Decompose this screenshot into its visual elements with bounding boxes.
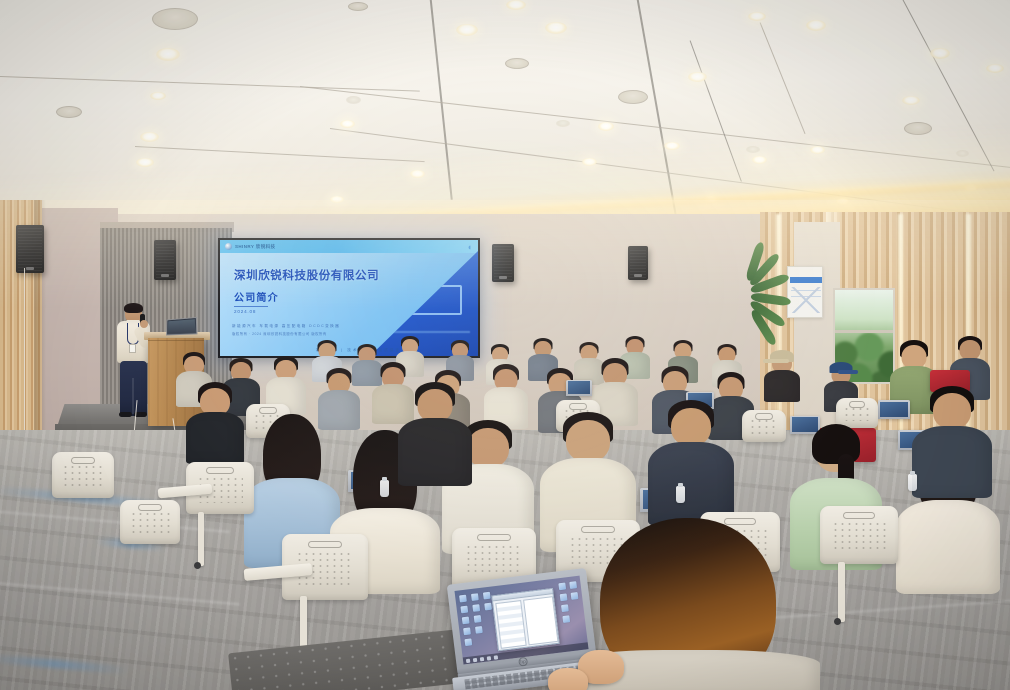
ceiling-downlight (806, 20, 826, 31)
audience-person-cap-beige (764, 348, 800, 400)
ceiling-speaker (56, 106, 82, 118)
training-chair[interactable] (120, 500, 180, 544)
slide-rule (234, 306, 268, 307)
audience-laptop[interactable] (566, 380, 592, 396)
slide-meta-line-2: 版权所有 · 2024 深圳欣锐科技股份有限公司 版权所有 (232, 331, 327, 336)
ceiling-speaker (505, 58, 529, 69)
training-chair[interactable] (820, 506, 898, 564)
typing-hand (548, 668, 588, 690)
chair-caster (194, 562, 201, 569)
slide-title: 深圳欣锐科技股份有限公司 (234, 267, 379, 283)
potted-palm (735, 262, 795, 352)
slide-logo-text: SHINRY 欣锐科技 (235, 244, 275, 250)
slide-subtitle: 公司简介 (234, 289, 279, 304)
chair-leg (838, 562, 845, 622)
slide-meta-line-1: 新能源汽车 车载电源 高压配电箱 DCDC变换器 (232, 324, 340, 329)
ceiling-downlight (506, 0, 526, 10)
presentation-slide: SHINRY 欣锐科技 ◖ 深圳欣锐科技股份有限公司 公司简介 2024.08 … (220, 240, 478, 356)
slide-product-outline (406, 285, 462, 315)
wall-speaker (16, 225, 44, 273)
ceiling-downlight-off (556, 120, 570, 127)
chair-leg (198, 512, 204, 566)
podium-laptop[interactable] (166, 317, 197, 335)
ceiling-speaker (618, 90, 648, 104)
slide-header-bar: SHINRY 欣锐科技 (220, 240, 478, 253)
training-chair[interactable] (52, 452, 114, 498)
taskbar-icon[interactable] (480, 656, 484, 660)
ceiling-downlight (930, 48, 950, 59)
conference-room-photo: SHINRY 欣锐科技 ◖ 深圳欣锐科技股份有限公司 公司简介 2024.08 … (0, 0, 1010, 690)
ceiling-downlight (598, 122, 614, 131)
window-mullion (835, 330, 893, 333)
start-icon[interactable] (466, 658, 470, 662)
presenter-hand (140, 320, 148, 328)
ceiling-downlight (136, 158, 154, 167)
slide-corner-mark: ◖ (467, 242, 472, 252)
taskbar-icon[interactable] (487, 656, 491, 660)
taskbar-icon[interactable] (494, 655, 498, 659)
taskbar-icon[interactable] (473, 657, 477, 661)
wall-speaker (492, 244, 514, 282)
water-bottle[interactable] (676, 486, 685, 503)
presenter-badge (129, 344, 136, 353)
ceiling-downlight (156, 48, 180, 61)
data-grid[interactable] (495, 600, 526, 649)
projection-screen[interactable]: SHINRY 欣锐科技 ◖ 深圳欣锐科技股份有限公司 公司简介 2024.08 … (218, 238, 480, 358)
audience-person (398, 382, 472, 482)
ceiling-downlight (456, 24, 478, 36)
water-bottle[interactable] (908, 474, 917, 491)
audience-person (186, 382, 244, 460)
ceiling-downlight (902, 96, 920, 105)
open-application-window[interactable] (491, 588, 559, 651)
presenter-hair (124, 303, 143, 313)
ceiling-downlight (140, 132, 159, 142)
company-logo-icon (225, 243, 232, 250)
ceiling-downlight (688, 72, 707, 82)
ceiling-downlight (340, 120, 355, 128)
presenter-shoe (119, 412, 132, 417)
chair-caster (834, 618, 841, 625)
audience-laptop[interactable] (878, 400, 910, 419)
ceiling-downlight (748, 12, 766, 21)
ceiling-downlight-off (346, 96, 361, 104)
water-bottle[interactable] (380, 480, 389, 497)
slide-date: 2024.08 (234, 309, 256, 314)
presenter-leg-split (132, 378, 134, 414)
ceiling-downlight (545, 22, 567, 34)
audience-person (484, 364, 528, 424)
audience-person (912, 386, 992, 494)
laptop-screen[interactable] (454, 576, 588, 665)
wall-speaker (628, 246, 648, 280)
wall-cable (24, 268, 25, 448)
ceiling-speaker (348, 2, 368, 11)
ceiling-downlight (986, 64, 1004, 73)
poster-diagram (791, 287, 821, 313)
training-chair[interactable] (742, 410, 786, 442)
ceiling-downlight (150, 92, 166, 100)
ceiling-speaker (152, 8, 198, 30)
wall-speaker (154, 240, 176, 280)
audience-person (648, 400, 734, 522)
content-pane[interactable] (523, 596, 558, 645)
